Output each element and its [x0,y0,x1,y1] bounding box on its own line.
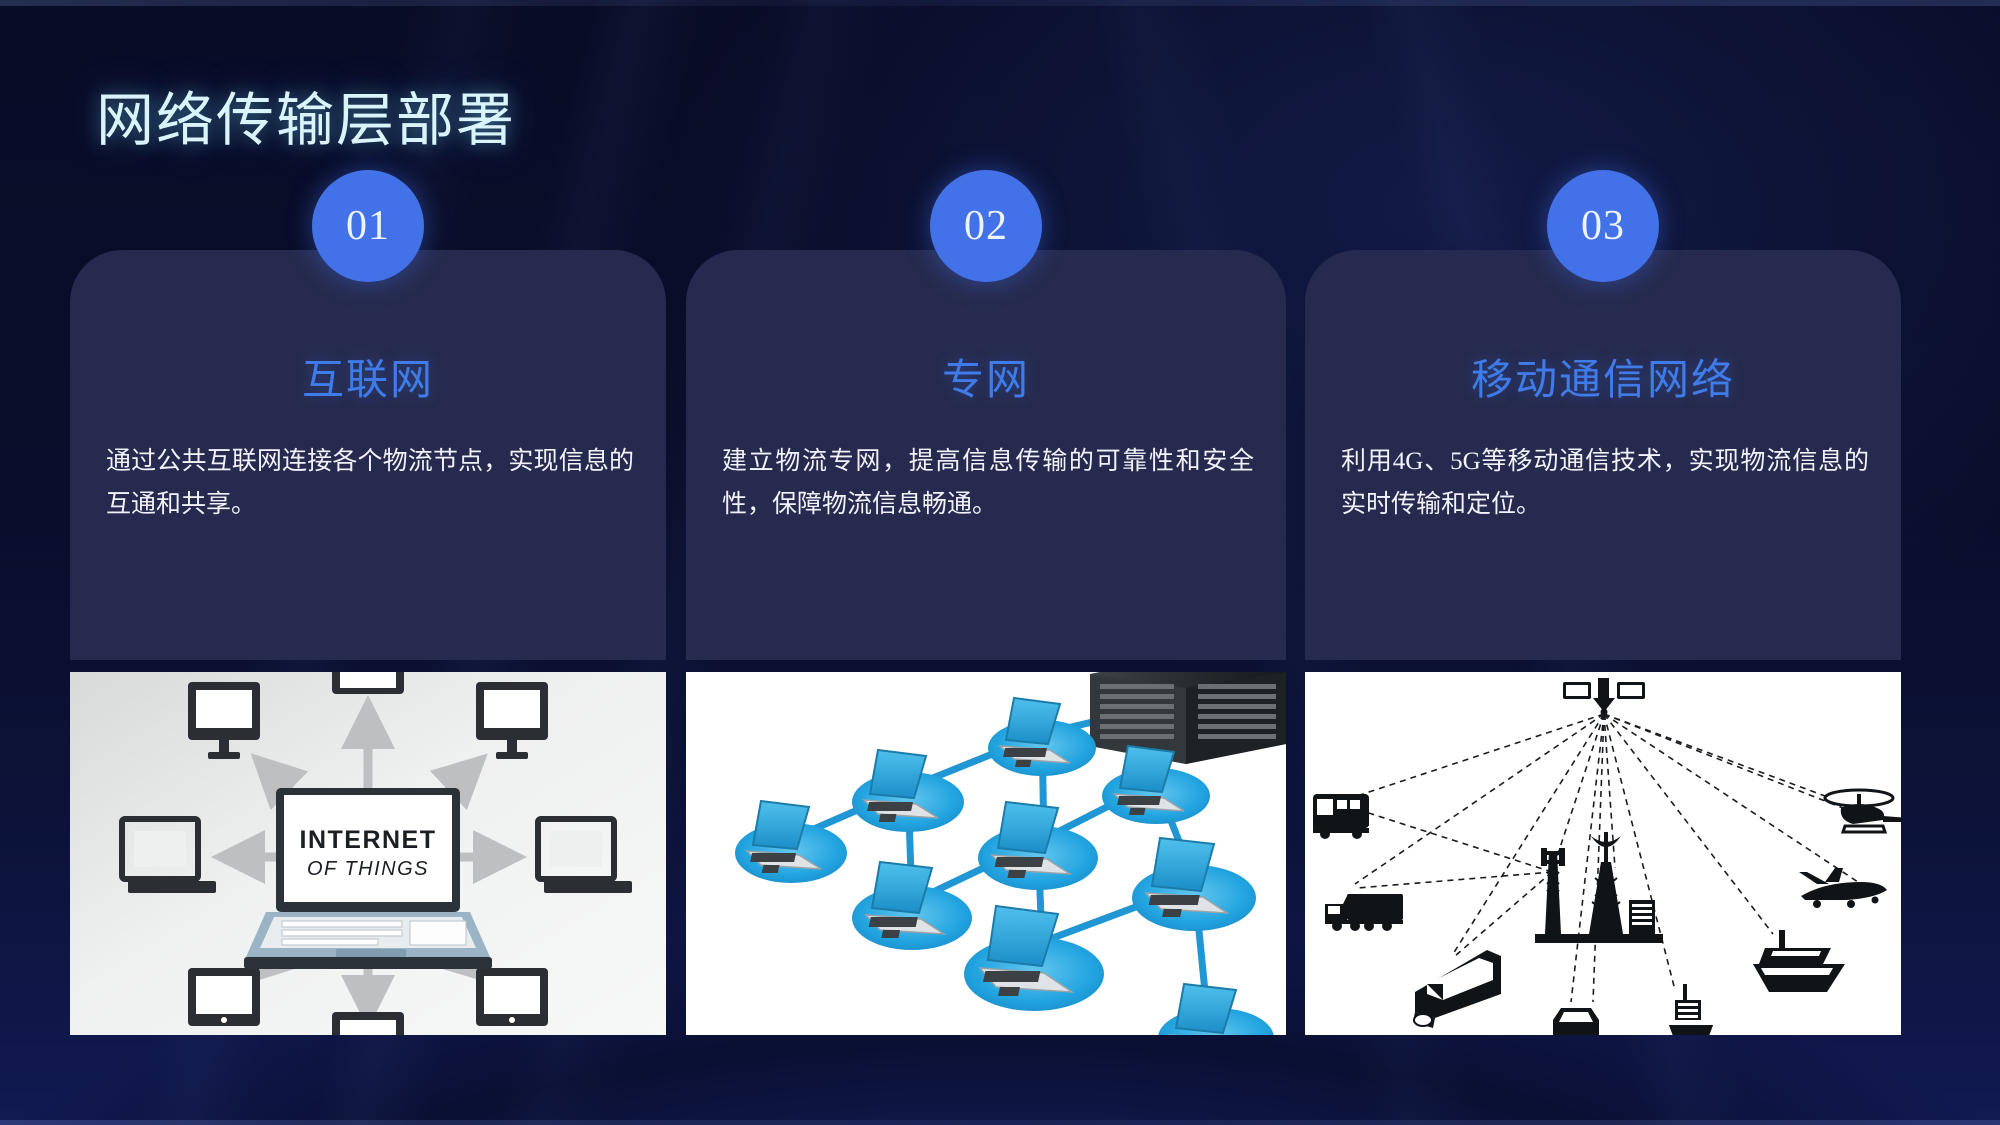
card-column-2: 02 专网 建立物流专网，提高信息传输的可靠性和安全性，保障物流信息畅通。 [686,250,1286,660]
card-2-number-badge: 02 [930,170,1042,282]
mobile-network-diagram-icon [1305,672,1901,1035]
card-column-1: 01 互联网 通过公共互联网连接各个物流节点，实现信息的互通和共享。 [70,250,666,660]
card-1-image: INTERNET OF THINGS [70,672,666,1035]
car-icon [1553,1008,1599,1035]
card-1-number-badge: 01 [312,170,424,282]
card-2[interactable]: 02 专网 建立物流专网，提高信息传输的可靠性和安全性，保障物流信息畅通。 [686,250,1286,660]
iot-caption-primary: INTERNET [300,826,437,854]
card-column-3: 03 移动通信网络 利用4G、5G等移动通信技术，实现物流信息的实时传输和定位。 [1305,250,1901,660]
card-3-image [1305,672,1901,1035]
network-topology-icon [686,672,1286,1035]
card-2-body: 建立物流专网，提高信息传输的可靠性和安全性，保障物流信息畅通。 [722,440,1254,526]
card-1-heading: 互联网 [70,346,666,407]
bus-icon [1313,794,1369,839]
iot-diagram-icon: INTERNET OF THINGS [70,672,666,1035]
card-2-image [686,672,1286,1035]
card-2-heading: 专网 [686,346,1286,407]
card-1[interactable]: 01 互联网 通过公共互联网连接各个物流节点，实现信息的互通和共享。 [70,250,666,660]
card-3-heading: 移动通信网络 [1305,346,1901,407]
card-3-body: 利用4G、5G等移动通信技术，实现物流信息的实时传输和定位。 [1341,440,1869,526]
card-3[interactable]: 03 移动通信网络 利用4G、5G等移动通信技术，实现物流信息的实时传输和定位。 [1305,250,1901,660]
card-3-number-badge: 03 [1547,170,1659,282]
card-1-body: 通过公共互联网连接各个物流节点，实现信息的互通和共享。 [106,440,634,526]
iot-caption-secondary: OF THINGS [307,858,429,880]
